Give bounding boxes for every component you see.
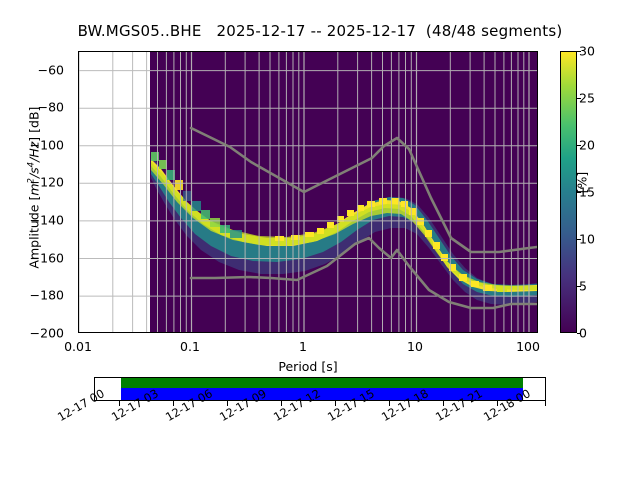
- y-tick-label: −100: [4, 138, 64, 153]
- colorbar-label: [%]: [575, 123, 590, 243]
- x-tick-label: 100: [488, 339, 568, 354]
- colorbar-tick-label: 25: [579, 91, 619, 106]
- y-tick-label: −160: [4, 251, 64, 266]
- colorbar-tick-label: 30: [579, 44, 619, 59]
- colorbar-tick-label: 0: [579, 326, 619, 341]
- page-title: BW.MGS05..BHE 2025-12-17 -- 2025-12-17 (…: [0, 22, 640, 40]
- y-tick-label: −180: [4, 288, 64, 303]
- y-tick-label: −140: [4, 213, 64, 228]
- ppsd-canvas: [79, 52, 537, 332]
- ppsd-histogram-axes: [78, 51, 538, 333]
- y-tick-label: −60: [4, 63, 64, 78]
- coverage-green-band: [121, 378, 523, 388]
- x-axis-label: Period [s]: [78, 359, 538, 374]
- x-tick-label: 0.01: [38, 339, 118, 354]
- x-tick-label: 0.1: [150, 339, 230, 354]
- x-tick-label: 1: [263, 339, 343, 354]
- y-tick-label: −120: [4, 175, 64, 190]
- coverage-tick-label: 12-17 00: [55, 386, 107, 424]
- y-tick-label: −80: [4, 100, 64, 115]
- ppsd-plot-figure: BW.MGS05..BHE 2025-12-17 -- 2025-12-17 (…: [0, 0, 640, 480]
- colorbar-tick-label: 5: [579, 279, 619, 294]
- x-tick-label: 10: [375, 339, 455, 354]
